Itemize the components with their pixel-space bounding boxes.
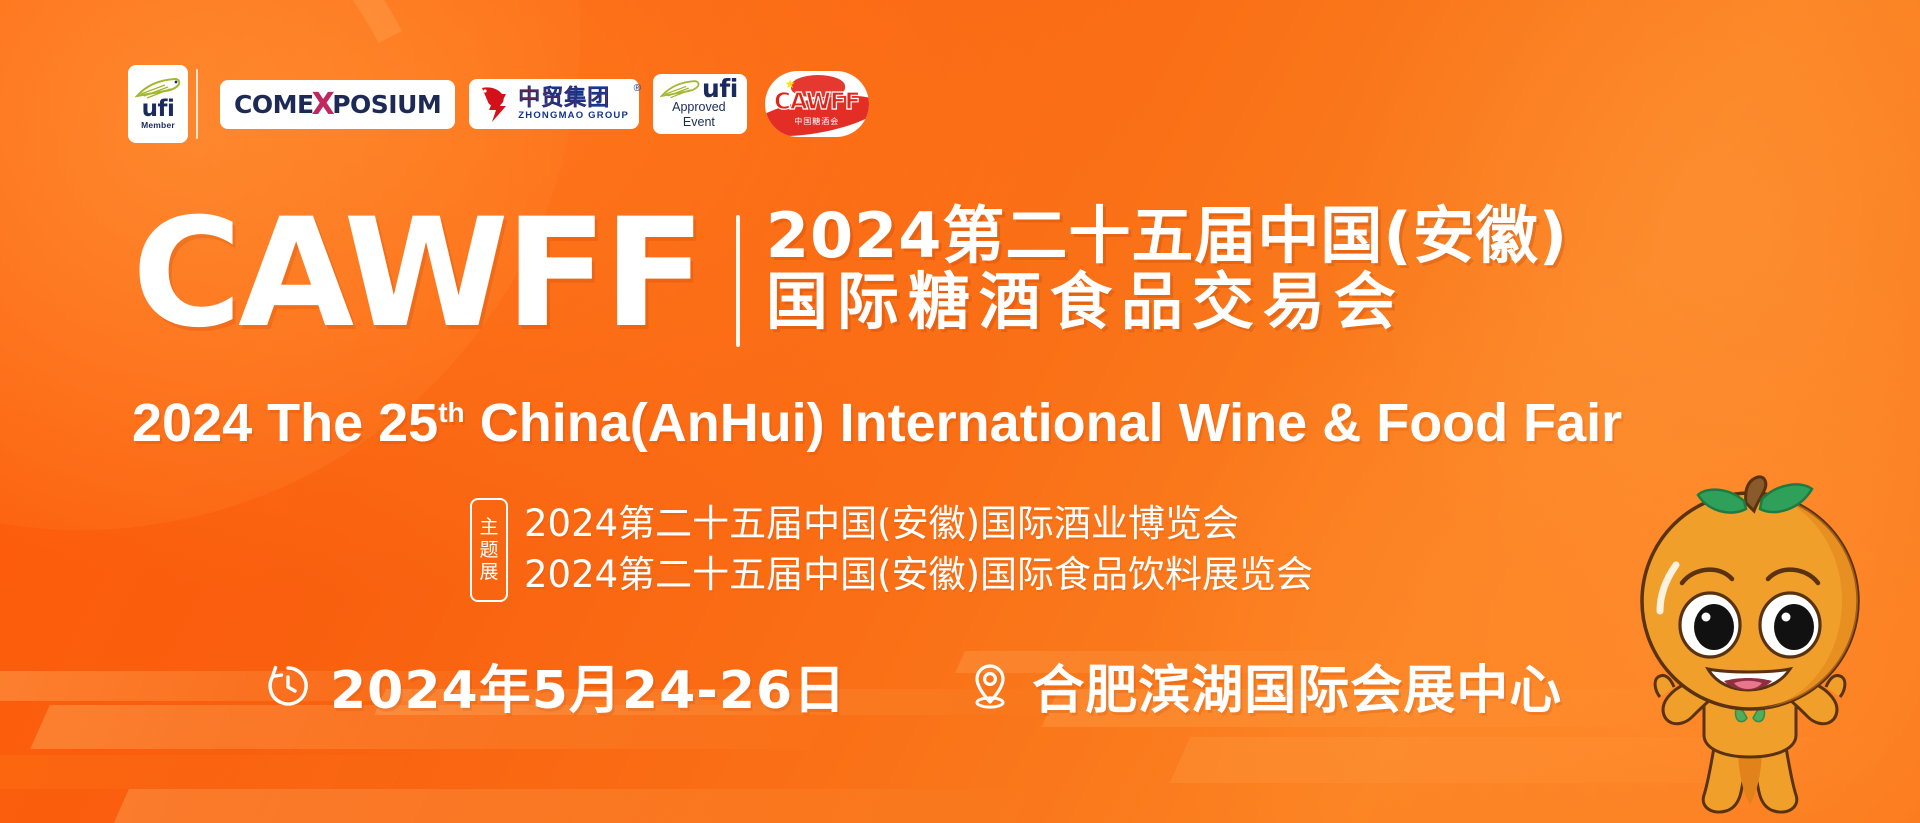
comexposium-part2: POSIUM	[332, 90, 441, 119]
logo-cawff-badge: ★ CAWFF 中国糖酒会	[765, 71, 869, 137]
cawff-badge-cn: 中国糖酒会	[794, 116, 839, 127]
comexposium-x: X	[312, 87, 335, 122]
ufi-approved-word: ufi	[702, 78, 738, 101]
event-venue: 合肥滨湖国际会展中心	[1032, 648, 1562, 723]
event-date-item: 2024年5月24-26日	[262, 648, 846, 723]
title-chinese: 2024第二十五届中国(安徽) 国际糖酒食品交易会	[766, 203, 1568, 334]
event-date: 2024年5月24-26日	[330, 648, 846, 723]
ufi-member-sub: Member	[141, 121, 175, 130]
background-stripe	[0, 755, 408, 789]
ufi-bird-icon	[660, 79, 700, 99]
orange-mascot	[1600, 473, 1900, 823]
logo-strip: ufi Member COME X POSIUM 中贸集团 ZHONGMAO G…	[128, 62, 869, 146]
logo-ufi-approved-event: ufi Approved Event	[653, 74, 747, 134]
theme-lines: 2024第二十五届中国(安徽)国际酒业博览会 2024第二十五届中国(安徽)国际…	[524, 500, 1313, 600]
theme-tag-char-1: 主	[479, 516, 498, 538]
event-banner: ufi Member COME X POSIUM 中贸集团 ZHONGMAO G…	[0, 0, 1920, 823]
title-chinese-line2: 国际糖酒食品交易会	[766, 269, 1568, 335]
title-chinese-line1: 2024第二十五届中国(安徽)	[766, 203, 1568, 269]
logo-ufi-member: ufi Member	[128, 65, 188, 143]
clock-icon	[262, 660, 314, 712]
theme-tag-char-2: 题	[479, 539, 498, 561]
theme-tag-badge: 主 题 展	[470, 498, 508, 602]
zhongmao-en: ZHONGMAO GROUP	[518, 110, 629, 121]
background-stripe	[111, 789, 1029, 823]
ufi-approved-line2: Event	[683, 115, 715, 129]
zhongmao-dragon-icon	[476, 84, 512, 124]
title-english-ordinal: th	[438, 397, 465, 428]
theme-line: 2024第二十五届中国(安徽)国际食品饮料展览会	[524, 551, 1313, 600]
location-pin-icon	[964, 660, 1016, 712]
main-title-row: CAWFF 2024第二十五届中国(安徽) 国际糖酒食品交易会	[132, 205, 1568, 347]
title-divider	[736, 215, 740, 347]
title-english-post: China(AnHui) International Wine & Food F…	[465, 393, 1622, 453]
ufi-approved-line1: Approved	[672, 100, 726, 114]
logo-zhongmao-group: 中贸集团 ZHONGMAO GROUP ®	[469, 79, 639, 129]
event-info-row: 2024年5月24-26日 合肥滨湖国际会展中心	[262, 648, 1562, 723]
zhongmao-cn: 中贸集团	[518, 87, 610, 110]
cawff-badge-word: CAWFF	[774, 89, 859, 115]
title-english: 2024 The 25th China(AnHui) International…	[132, 392, 1622, 454]
theme-line: 2024第二十五届中国(安徽)国际酒业博览会	[524, 500, 1313, 549]
page-title-acronym: CAWFF	[132, 205, 702, 343]
theme-tag-char-3: 展	[479, 561, 498, 583]
registered-mark-icon: ®	[634, 83, 641, 94]
theme-exhibitions-block: 主 题 展 2024第二十五届中国(安徽)国际酒业博览会 2024第二十五届中国…	[470, 498, 1313, 602]
title-english-pre: 2024 The 25	[132, 393, 438, 453]
ufi-member-word: ufi	[142, 99, 175, 121]
event-venue-item: 合肥滨湖国际会展中心	[964, 648, 1562, 723]
logo-divider	[196, 69, 198, 139]
comexposium-part1: COME	[234, 90, 314, 119]
logo-comexposium: COME X POSIUM	[220, 80, 455, 129]
